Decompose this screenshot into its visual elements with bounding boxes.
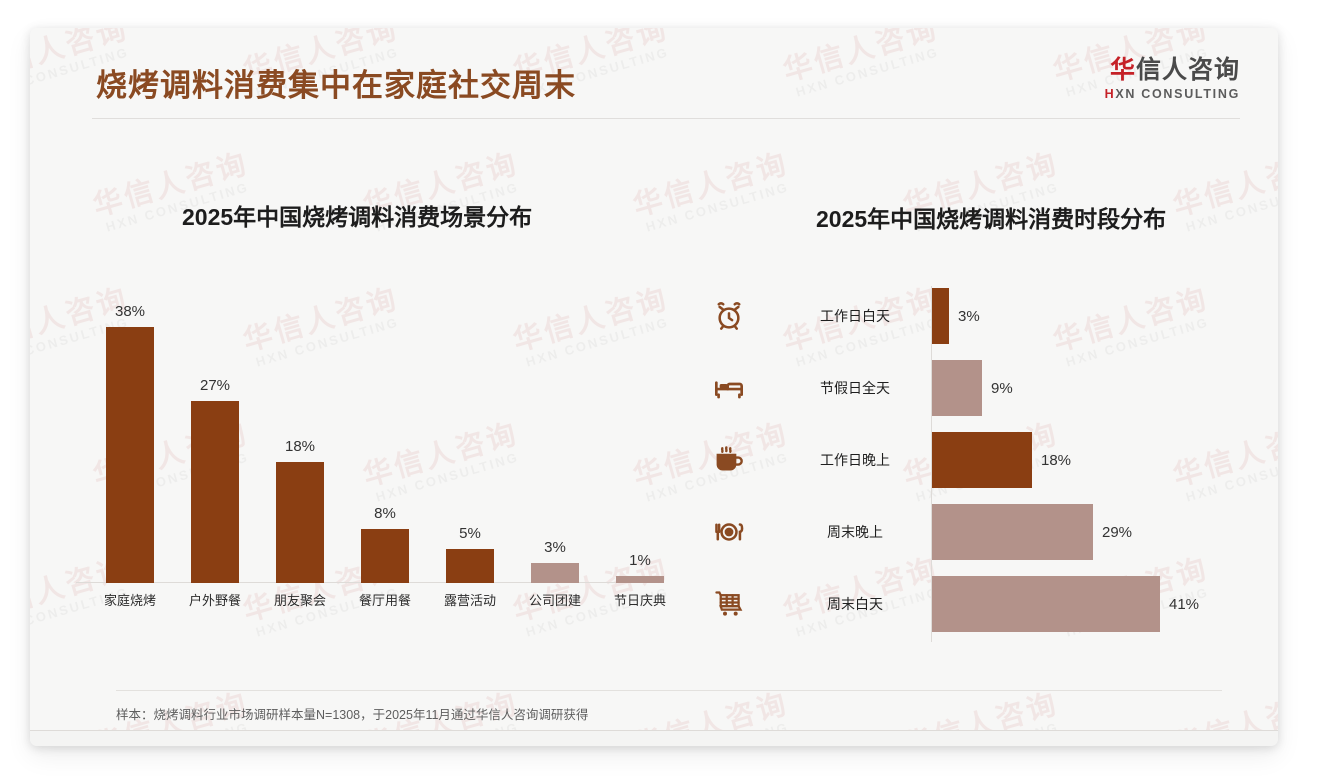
column-value-label: 1% — [629, 552, 651, 569]
bar-track: 3% — [932, 288, 1230, 344]
horizontal-bar — [932, 288, 949, 344]
bar-track: 9% — [932, 360, 1230, 416]
column-value-label: 8% — [374, 505, 396, 522]
bar-row: 工作日白天3% — [690, 288, 1230, 344]
column-bar-item: 18% — [276, 278, 324, 583]
bar-value-label: 29% — [1102, 524, 1132, 541]
logo-text-cn: 华信人咨询 — [1105, 56, 1240, 85]
bar-row: 节假日全天9% — [690, 360, 1230, 416]
bar-category-label: 周末晚上 — [785, 522, 925, 542]
dinner-plate-icon — [710, 513, 748, 551]
left-chart-title: 2025年中国烧烤调料消费场景分布 — [182, 198, 532, 232]
logo-text-en: HXN CONSULTING — [1105, 87, 1240, 101]
bar-track: 29% — [932, 504, 1230, 560]
column-category-label: 露营活动 — [422, 590, 518, 609]
horizontal-bar — [932, 576, 1160, 632]
column-value-label: 3% — [544, 539, 566, 556]
column-category-label: 公司团建 — [507, 590, 603, 609]
column-category-label: 朋友聚会 — [252, 590, 348, 609]
column-bar-item: 27% — [191, 278, 239, 583]
bar-value-label: 41% — [1169, 596, 1199, 613]
column-category-label: 节日庆典 — [592, 590, 688, 609]
bar-row: 周末白天41% — [690, 576, 1230, 632]
right-chart-title: 2025年中国烧烤调料消费时段分布 — [816, 200, 1166, 234]
page-title: 烧烤调料消费集中在家庭社交周末 — [96, 60, 576, 105]
column-bar — [531, 563, 579, 583]
column-bar-item: 5% — [446, 278, 494, 583]
column-value-label: 38% — [115, 303, 145, 320]
column-bar-item: 3% — [531, 278, 579, 583]
column-category-label: 家庭烧烤 — [82, 590, 178, 609]
alarm-clock-icon — [710, 297, 748, 335]
column-bar — [191, 401, 239, 583]
column-category-label: 餐厅用餐 — [337, 590, 433, 609]
bar-category-label: 周末白天 — [785, 594, 925, 614]
bar-category-label: 工作日晚上 — [785, 450, 925, 470]
bar-category-label: 工作日白天 — [785, 306, 925, 326]
horizontal-bar — [932, 504, 1093, 560]
header-divider — [92, 118, 1240, 119]
column-value-label: 27% — [200, 377, 230, 394]
bar-category-label: 节假日全天 — [785, 378, 925, 398]
column-value-label: 5% — [459, 525, 481, 542]
bar-row: 工作日晚上18% — [690, 432, 1230, 488]
slide-header: 烧烤调料消费集中在家庭社交周末 华信人咨询 HXN CONSULTING — [30, 28, 1278, 120]
horizontal-bar — [932, 432, 1032, 488]
bar-value-label: 3% — [958, 308, 980, 325]
column-bar — [361, 529, 409, 583]
column-bar — [276, 462, 324, 583]
column-bar — [616, 576, 664, 583]
bar-track: 18% — [932, 432, 1230, 488]
bar-track: 41% — [932, 576, 1230, 632]
source-divider — [116, 690, 1222, 691]
time-distribution-chart: 工作日白天3%节假日全天9%工作日晚上18%周末晚上29%周末白天41% — [690, 278, 1230, 648]
column-plot-area: 38%27%18%8%5%3%1% — [76, 278, 666, 583]
column-bar — [106, 327, 154, 583]
column-bar-item: 1% — [616, 278, 664, 583]
bar-value-label: 9% — [991, 380, 1013, 397]
column-bar — [446, 549, 494, 583]
shopping-cart-icon — [710, 585, 748, 623]
bar-row: 周末晚上29% — [690, 504, 1230, 560]
coffee-mug-icon — [710, 441, 748, 479]
slide-footer: ©2026.1 HXR华信人咨询 www.hxrcon.com — [30, 731, 1278, 746]
bar-value-label: 18% — [1041, 452, 1071, 469]
source-note: 样本：烧烤调料行业市场调研样本量N=1308，于2025年11月通过华信人咨询调… — [116, 704, 588, 723]
column-value-label: 18% — [285, 438, 315, 455]
bed-icon — [710, 369, 748, 407]
column-bar-item: 38% — [106, 278, 154, 583]
horizontal-bar — [932, 360, 982, 416]
column-bar-item: 8% — [361, 278, 409, 583]
column-category-label: 户外野餐 — [167, 590, 263, 609]
scene-distribution-chart: 38%27%18%8%5%3%1% 家庭烧烤户外野餐朋友聚会餐厅用餐露营活动公司… — [76, 278, 666, 628]
company-logo: 华信人咨询 HXN CONSULTING — [1105, 56, 1240, 101]
slide-card: 华信人咨询HXN CONSULTING华信人咨询HXN CONSULTING华信… — [30, 28, 1278, 746]
